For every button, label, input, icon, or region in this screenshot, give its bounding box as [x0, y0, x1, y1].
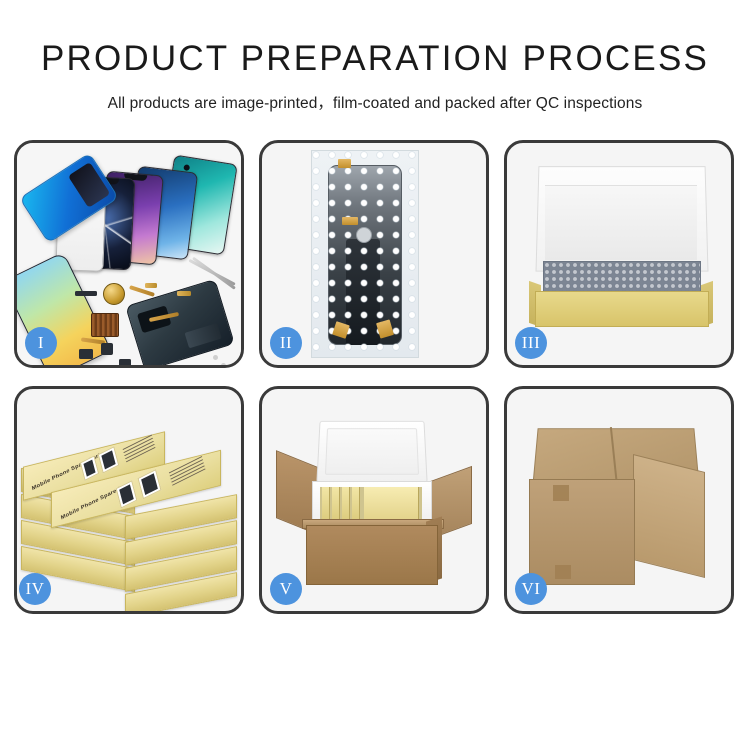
process-step-2: II: [259, 140, 489, 368]
carton-front-icon: [529, 479, 635, 585]
carton-side-icon: [633, 454, 705, 578]
tape-tab-icon: [338, 159, 351, 168]
carton-tape-icon: [555, 565, 571, 579]
step-badge-4: IV: [19, 573, 51, 605]
step-4-illustration: Mobile Phone Spare Parts Mobile Phone Sp…: [17, 389, 241, 611]
vibrator-motor-icon: [101, 343, 113, 355]
chip-array-icon: [91, 313, 119, 337]
box-stack-icon: Mobile Phone Spare Parts Mobile Phone Sp…: [21, 413, 241, 603]
page-subtitle: All products are image-printed，film-coat…: [0, 91, 750, 113]
gold-contact-icon: [145, 283, 157, 288]
process-step-3: III: [504, 140, 734, 368]
box-lid-inner-icon: [545, 185, 697, 260]
process-step-6: VI: [504, 386, 734, 614]
step-badge-6: VI: [515, 573, 547, 605]
tape-tab-icon: [342, 217, 358, 225]
carton-tape-icon: [553, 485, 569, 501]
yellow-box-front-icon: [535, 291, 709, 327]
screw-icon: [213, 355, 218, 360]
process-step-1: I: [14, 140, 244, 368]
button-flex-icon: [119, 359, 131, 365]
step-badge-2: II: [270, 327, 302, 359]
foam-lid-icon: [316, 421, 427, 483]
camera-module-icon: [79, 349, 93, 359]
process-step-4: Mobile Phone Spare Parts Mobile Phone Sp…: [14, 386, 244, 614]
process-step-grid: I II III: [14, 140, 736, 614]
step-badge-3: III: [515, 327, 547, 359]
page-title: PRODUCT PREPARATION PROCESS: [0, 40, 750, 79]
page-header: PRODUCT PREPARATION PROCESS All products…: [0, 0, 750, 113]
bubble-wrap-filler-icon: [543, 261, 701, 295]
speaker-coil-icon: [103, 283, 125, 305]
tweezers-icon: [177, 273, 235, 327]
bubble-wrap-package-icon: [311, 150, 419, 358]
screw-icon: [221, 363, 226, 365]
home-button-icon: [356, 227, 372, 243]
carton-body-icon: [306, 525, 438, 585]
step-badge-5: V: [270, 573, 302, 605]
process-step-5: V: [259, 386, 489, 614]
step-badge-1: I: [25, 327, 57, 359]
connector-icon: [75, 291, 97, 296]
